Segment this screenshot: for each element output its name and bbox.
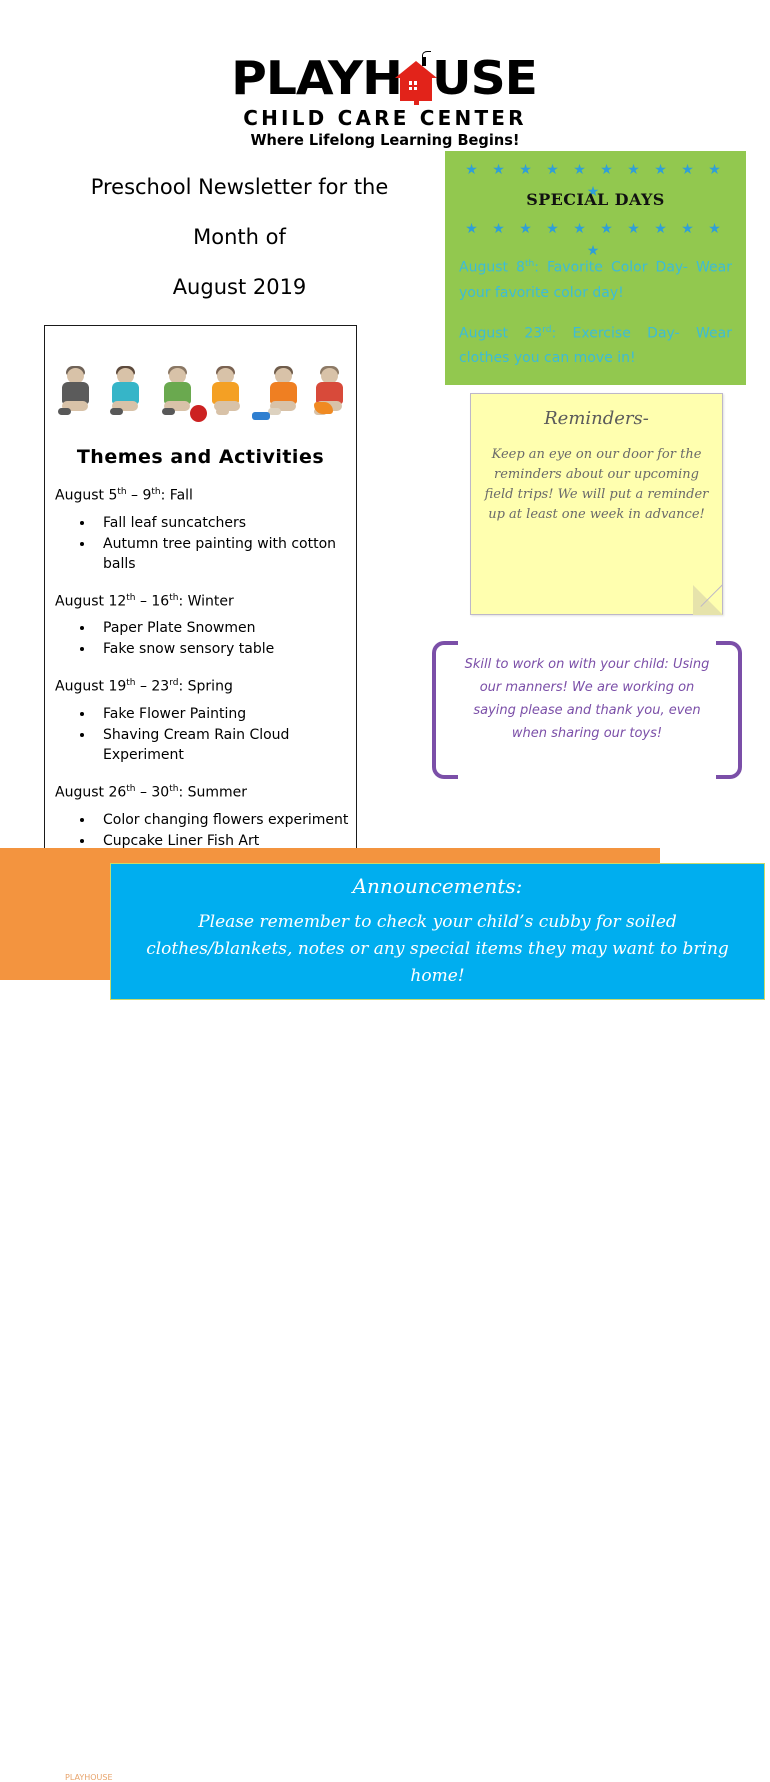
- logo-tagline: Where Lifelong Learning Begins!: [12, 131, 759, 149]
- week-label-3: August 19th – 23rd: Spring: [55, 678, 356, 695]
- week-label-4: August 26th – 30th: Summer: [55, 784, 356, 801]
- special-days-title: SPECIAL DAYS: [459, 190, 732, 209]
- week-label-1-mid: – 9: [127, 488, 152, 504]
- announcements-panel: Announcements: Please remember to check …: [110, 863, 765, 1000]
- week-label-3-suffix: : Spring: [178, 679, 232, 695]
- reminders-sticky-note: Reminders- Keep an eye on our door for t…: [470, 393, 723, 615]
- week-label-3-mid: – 23: [136, 679, 170, 695]
- special-day-item-1: August 8th: Favorite Color Day- Wear you…: [459, 252, 732, 306]
- list-item: Autumn tree painting with cotton balls: [95, 534, 356, 574]
- week-label-4-prefix: August 26: [55, 785, 126, 801]
- blue-toy-icon: [252, 412, 270, 420]
- week-label-1-prefix: August 5: [55, 488, 117, 504]
- logo-wordmark: PLAYH USE: [236, 52, 534, 102]
- activity-list-4: Color changing flowers experiment Cupcak…: [45, 810, 356, 851]
- activity-list-2: Paper Plate Snowmen Fake snow sensory ta…: [45, 618, 356, 659]
- activity-list-3: Fake Flower Painting Shaving Cream Rain …: [45, 704, 356, 765]
- list-item: Color changing flowers experiment: [95, 810, 356, 830]
- left-bracket-icon: [432, 641, 458, 779]
- themes-and-activities-panel: Themes and Activities August 5th – 9th: …: [44, 325, 357, 878]
- logo-subtitle: CHILD CARE CENTER: [0, 106, 770, 130]
- special-day-1-sup: th: [525, 259, 534, 269]
- week-label-1: August 5th – 9th: Fall: [55, 487, 356, 504]
- star-row-top: ★ ★ ★ ★ ★ ★ ★ ★ ★ ★ ★: [459, 159, 732, 181]
- page-title-line-2: Month of: [42, 212, 437, 262]
- page-title-line-3: August 2019: [42, 262, 437, 312]
- week-label-3-sup1: th: [126, 678, 135, 688]
- week-label-2-prefix: August 12: [55, 593, 126, 609]
- week-label-2-suffix: : Winter: [178, 593, 233, 609]
- list-item: Paper Plate Snowmen: [95, 618, 356, 638]
- right-bracket-icon: [716, 641, 742, 779]
- logo-word-part2: USE: [432, 53, 537, 103]
- skill-to-work-on-panel: Skill to work on with your child: Using …: [432, 641, 742, 771]
- house-icon: [395, 55, 437, 101]
- reminders-body: Keep an eye on our door for the reminder…: [483, 445, 710, 525]
- week-label-4-suffix: : Summer: [178, 785, 247, 801]
- orange-band-watermark: PLAYHOUSE: [65, 1773, 125, 1782]
- announcements-title: Announcements:: [133, 874, 742, 898]
- activity-list-1: Fall leaf suncatchers Autumn tree painti…: [45, 513, 356, 574]
- week-label-2-mid: – 16: [136, 593, 170, 609]
- skill-text: Skill to work on with your child: Using …: [458, 653, 716, 745]
- list-item: Fake snow sensory table: [95, 639, 356, 659]
- week-label-1-suffix: : Fall: [161, 488, 193, 504]
- page-fold-icon: [693, 585, 723, 615]
- logo-word-part1: PLAYH: [231, 53, 402, 103]
- week-label-3-prefix: August 19: [55, 679, 126, 695]
- list-item: Shaving Cream Rain Cloud Experiment: [95, 725, 356, 765]
- announcements-body: Please remember to check your child’s cu…: [133, 909, 742, 990]
- special-days-panel: ★ ★ ★ ★ ★ ★ ★ ★ ★ ★ ★ SPECIAL DAYS ★ ★ ★…: [445, 151, 746, 385]
- special-day-item-2: August 23rd: Exercise Day- Wear clothes …: [459, 318, 732, 372]
- week-label-2-sup1: th: [126, 593, 135, 603]
- themes-heading: Themes and Activities: [45, 446, 356, 468]
- week-label-1-sup2: th: [151, 487, 160, 497]
- week-label-1-sup1: th: [117, 487, 126, 497]
- week-label-4-mid: – 30: [136, 785, 170, 801]
- page-title: Preschool Newsletter for the Month of Au…: [42, 162, 437, 312]
- special-day-1-date: August 8: [459, 260, 525, 276]
- special-day-2-date: August 23: [459, 325, 542, 341]
- list-item: Fall leaf suncatchers: [95, 513, 356, 533]
- page-title-line-1: Preschool Newsletter for the: [42, 162, 437, 212]
- week-label-2: August 12th – 16th: Winter: [55, 593, 356, 610]
- week-label-4-sup1: th: [126, 784, 135, 794]
- reminders-title: Reminders-: [483, 408, 710, 429]
- red-ball-icon: [190, 405, 207, 422]
- star-row-bottom: ★ ★ ★ ★ ★ ★ ★ ★ ★ ★ ★: [459, 218, 732, 240]
- list-item: Fake Flower Painting: [95, 704, 356, 724]
- logo: PLAYH USE CHILD CARE CENTER Where Lifelo…: [0, 52, 770, 149]
- skill-heading: Skill to work on with your child:: [465, 657, 669, 672]
- children-sitting-clipart: [56, 356, 346, 424]
